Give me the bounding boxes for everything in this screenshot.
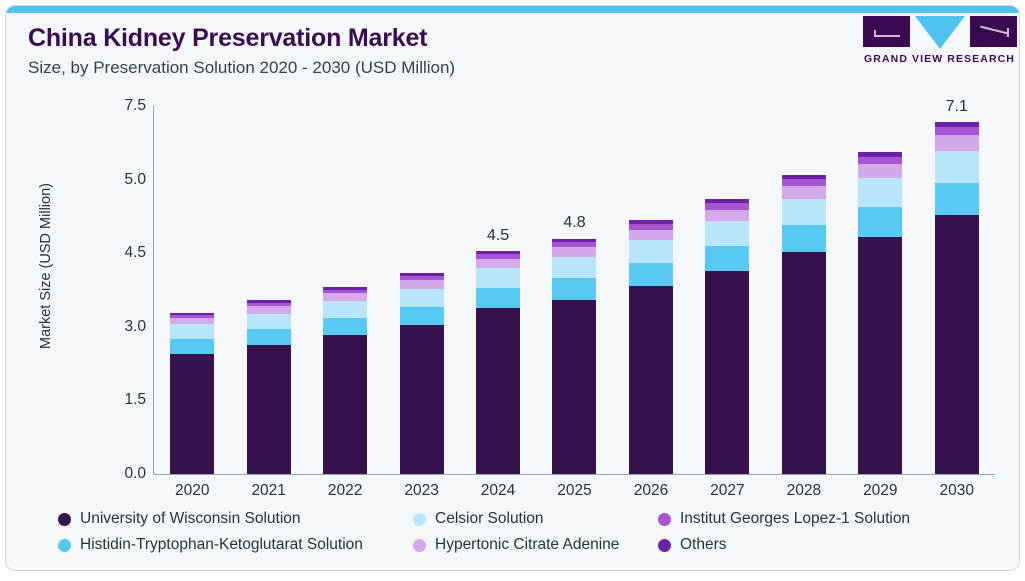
- chart-header: China Kidney Preservation Market Size, b…: [28, 24, 1001, 94]
- x-tick-label: 2022: [307, 482, 383, 500]
- y-tick-label: 5.0: [86, 171, 146, 189]
- bar-segment[interactable]: [629, 286, 673, 474]
- bar-segment[interactable]: [170, 339, 214, 354]
- bar-segment[interactable]: [629, 240, 673, 263]
- bar-stack[interactable]: [170, 313, 214, 474]
- bar-group[interactable]: [766, 106, 842, 474]
- bar-group[interactable]: [689, 106, 765, 474]
- x-axis-line: [153, 474, 995, 475]
- bar-segment[interactable]: [247, 306, 291, 313]
- bar-stack[interactable]: [323, 287, 367, 474]
- legend-label: Institut Georges Lopez-1 Solution: [680, 510, 910, 528]
- bar-segment[interactable]: [170, 318, 214, 325]
- legend-color-swatch: [413, 513, 426, 526]
- legend-color-swatch: [58, 539, 71, 552]
- bar-group[interactable]: [230, 106, 306, 474]
- bar-stack[interactable]: [400, 273, 444, 474]
- bar-group[interactable]: [383, 106, 459, 474]
- bar-segment[interactable]: [858, 164, 902, 178]
- bar-segment[interactable]: [400, 289, 444, 307]
- bar-segment[interactable]: [552, 257, 596, 278]
- chart-card: China Kidney Preservation Market Size, b…: [5, 5, 1020, 571]
- bar-group[interactable]: [154, 106, 230, 474]
- bar-segment[interactable]: [782, 199, 826, 225]
- legend-item[interactable]: Institut Georges Lopez-1 Solution: [658, 510, 1008, 528]
- y-tick-label: 0.0: [86, 465, 146, 483]
- bar-segment[interactable]: [476, 259, 520, 268]
- bar-stack[interactable]: [935, 122, 979, 474]
- logo-r-icon: [970, 16, 1017, 47]
- y-tick-label: 3.0: [86, 318, 146, 336]
- bar-segment[interactable]: [170, 354, 214, 474]
- bar-group[interactable]: [307, 106, 383, 474]
- bar-segment[interactable]: [400, 325, 444, 474]
- bar-segment[interactable]: [476, 268, 520, 288]
- y-tick-label: 7.5: [86, 97, 146, 115]
- bar-stack[interactable]: [858, 152, 902, 474]
- legend-item[interactable]: Celsior Solution: [413, 510, 658, 528]
- bar-segment[interactable]: [935, 215, 979, 474]
- page-title: China Kidney Preservation Market: [28, 24, 1001, 53]
- legend-label: University of Wisconsin Solution: [80, 510, 301, 528]
- x-tick-label: 2023: [383, 482, 459, 500]
- x-tick-label: 2030: [919, 482, 995, 500]
- bar-segment[interactable]: [705, 271, 749, 474]
- chart-legend: University of Wisconsin SolutionCelsior …: [58, 506, 1008, 558]
- bar-segment[interactable]: [705, 246, 749, 271]
- bar-value-label: 4.8: [536, 214, 612, 232]
- bar-segment[interactable]: [858, 178, 902, 207]
- bar-series-container: 4.54.87.1: [154, 106, 995, 474]
- bar-segment[interactable]: [935, 151, 979, 183]
- bar-segment[interactable]: [552, 278, 596, 300]
- bar-segment[interactable]: [935, 135, 979, 150]
- bar-segment[interactable]: [782, 225, 826, 252]
- bar-stack[interactable]: [705, 199, 749, 474]
- bar-segment[interactable]: [782, 179, 826, 186]
- bar-group[interactable]: 4.8: [536, 106, 612, 474]
- bar-segment[interactable]: [935, 183, 979, 215]
- legend-item[interactable]: Histidin-Tryptophan-Ketoglutarat Solutio…: [58, 536, 413, 554]
- legend-label: Celsior Solution: [435, 510, 544, 528]
- legend-color-swatch: [658, 539, 671, 552]
- bar-stack[interactable]: [629, 220, 673, 474]
- bar-segment[interactable]: [476, 288, 520, 308]
- legend-item[interactable]: Hypertonic Citrate Adenine: [413, 536, 658, 554]
- bar-stack[interactable]: [476, 251, 520, 474]
- bar-segment[interactable]: [170, 324, 214, 339]
- y-tick-label: 4.5: [86, 244, 146, 262]
- x-tick-label: 2021: [230, 482, 306, 500]
- x-tick-label: 2029: [842, 482, 918, 500]
- legend-color-swatch: [413, 539, 426, 552]
- x-tick-label: 2025: [536, 482, 612, 500]
- bar-segment[interactable]: [705, 221, 749, 246]
- page-subtitle: Size, by Preservation Solution 2020 - 20…: [28, 58, 1001, 78]
- bar-segment[interactable]: [858, 237, 902, 474]
- bar-segment[interactable]: [935, 127, 979, 135]
- x-tick-label: 2020: [154, 482, 230, 500]
- bar-segment[interactable]: [629, 230, 673, 241]
- logo-g-icon: [863, 16, 910, 47]
- legend-label: Histidin-Tryptophan-Ketoglutarat Solutio…: [80, 536, 363, 554]
- legend-item[interactable]: Others: [658, 536, 1008, 554]
- top-accent-bar: [6, 6, 1019, 13]
- bar-segment[interactable]: [858, 157, 902, 164]
- bar-segment[interactable]: [858, 207, 902, 236]
- bar-segment[interactable]: [782, 186, 826, 199]
- legend-item[interactable]: University of Wisconsin Solution: [58, 510, 413, 528]
- bar-segment[interactable]: [400, 280, 444, 288]
- x-tick-label: 2028: [766, 482, 842, 500]
- bar-segment[interactable]: [552, 247, 596, 257]
- bar-segment[interactable]: [552, 300, 596, 474]
- bar-segment[interactable]: [476, 308, 520, 474]
- bar-group[interactable]: [842, 106, 918, 474]
- bar-segment[interactable]: [400, 307, 444, 326]
- bar-segment[interactable]: [705, 210, 749, 222]
- legend-color-swatch: [58, 513, 71, 526]
- y-axis-title: Market Size (USD Million): [38, 116, 54, 416]
- brand-logo: GRAND VIEW RESEARCH: [862, 16, 1017, 65]
- x-tick-label: 2027: [689, 482, 765, 500]
- bar-segment[interactable]: [247, 329, 291, 345]
- logo-v-icon: [915, 16, 965, 49]
- bar-stack[interactable]: [247, 300, 291, 474]
- bar-segment[interactable]: [629, 263, 673, 286]
- logo-marks: [862, 16, 1017, 49]
- bar-segment[interactable]: [323, 318, 367, 335]
- y-tick-label: 1.5: [86, 391, 146, 409]
- bar-stack[interactable]: [782, 175, 826, 474]
- bar-group[interactable]: 4.5: [460, 106, 536, 474]
- logo-wordmark: GRAND VIEW RESEARCH: [862, 53, 1017, 65]
- legend-label: Others: [680, 536, 727, 554]
- bar-segment[interactable]: [323, 301, 367, 318]
- legend-label: Hypertonic Citrate Adenine: [435, 536, 619, 554]
- bar-group[interactable]: [613, 106, 689, 474]
- bar-segment[interactable]: [247, 345, 291, 474]
- x-tick-label: 2024: [460, 482, 536, 500]
- x-tick-label: 2026: [613, 482, 689, 500]
- legend-color-swatch: [658, 513, 671, 526]
- bar-value-label: 4.5: [460, 227, 536, 245]
- plot-area: Market Size (USD Million) 7.55.04.53.01.…: [6, 98, 1020, 493]
- bar-segment[interactable]: [247, 314, 291, 330]
- bar-stack[interactable]: [552, 239, 596, 474]
- bar-segment[interactable]: [782, 252, 826, 474]
- bar-segment[interactable]: [323, 335, 367, 474]
- bar-segment[interactable]: [323, 293, 367, 301]
- bar-value-label: 7.1: [919, 98, 995, 116]
- bar-group[interactable]: 7.1: [919, 106, 995, 474]
